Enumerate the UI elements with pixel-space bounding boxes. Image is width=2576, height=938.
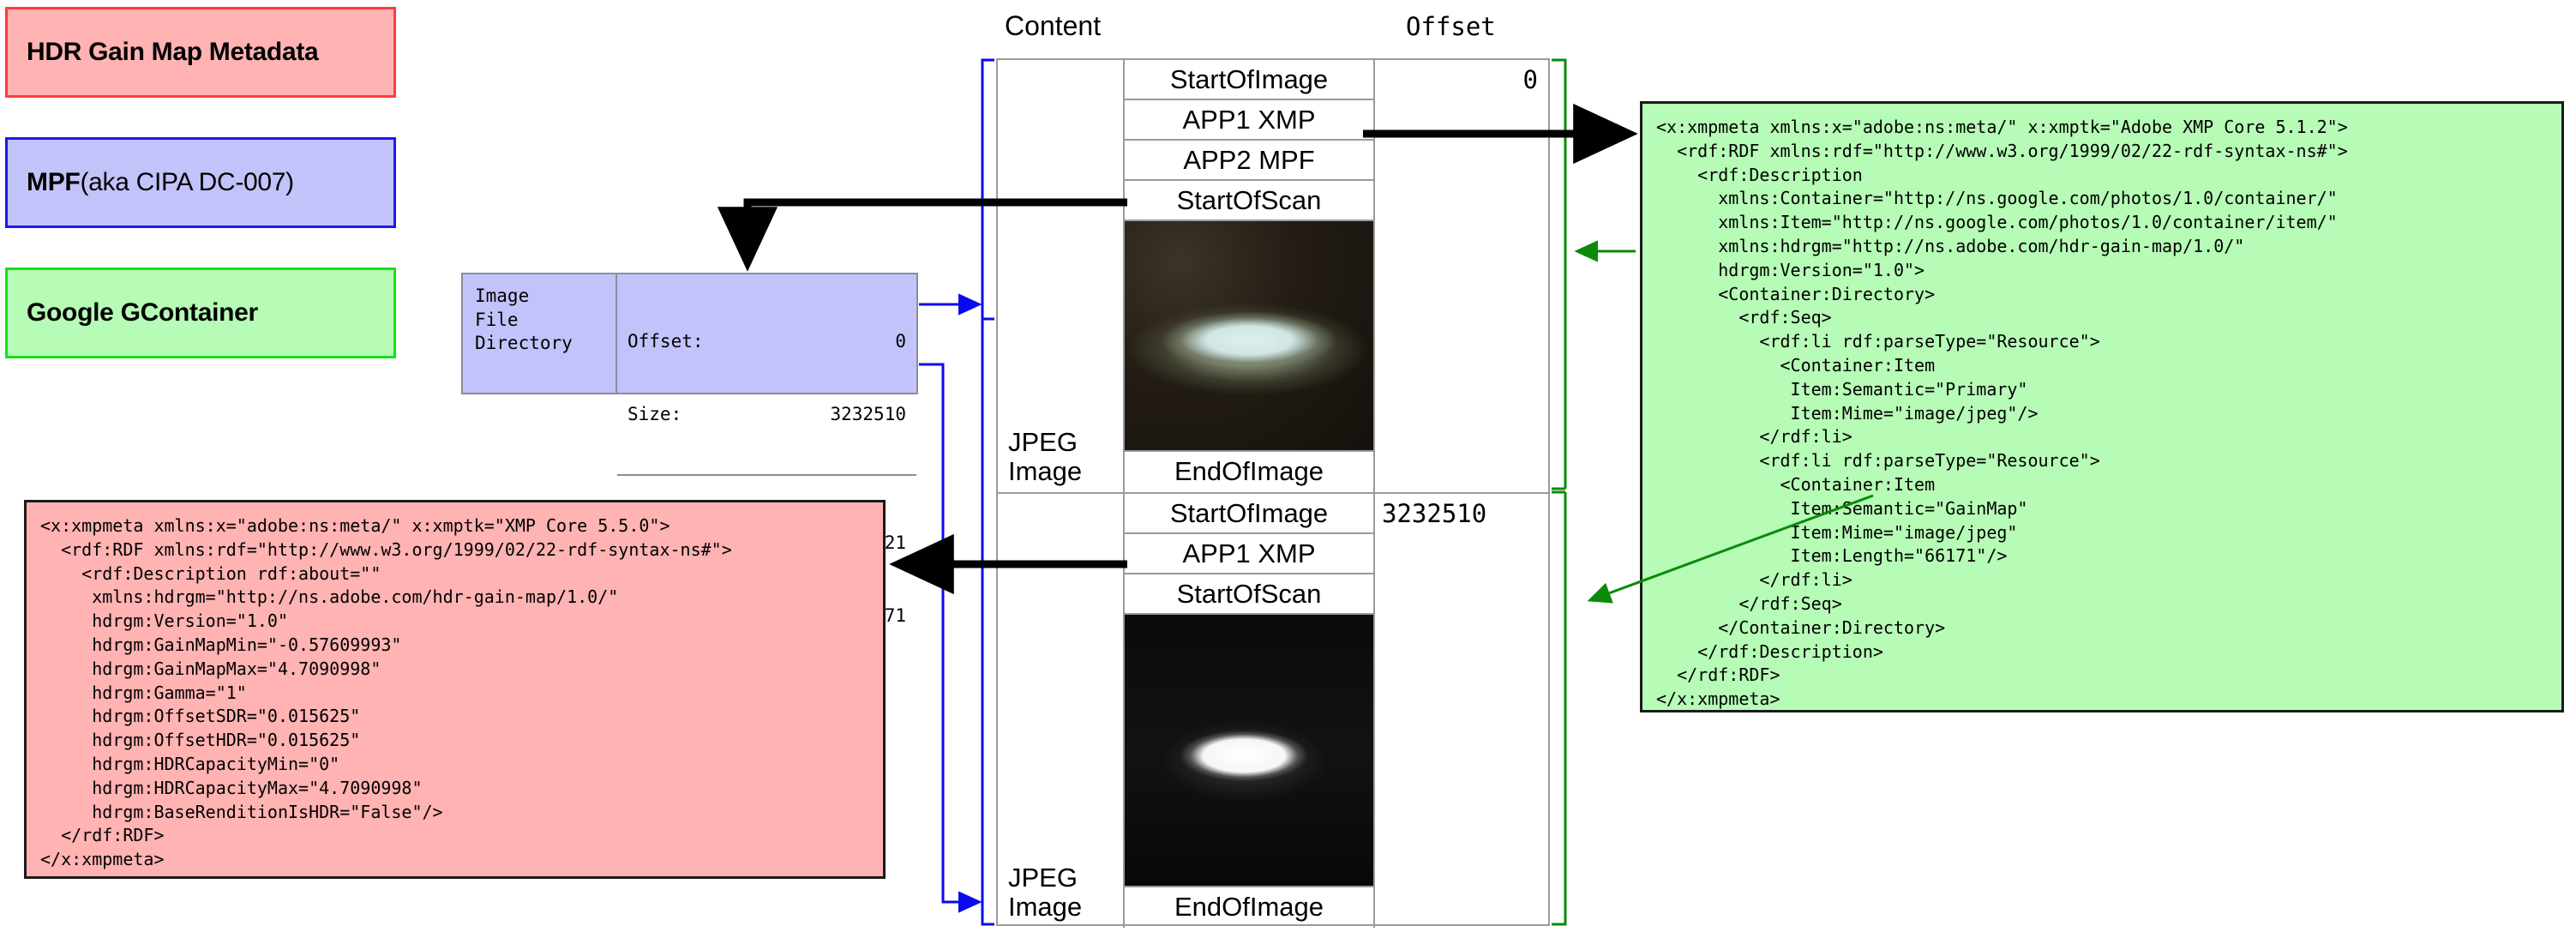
jpeg-group-1-offset-value: 0 <box>1523 65 1538 94</box>
segment-start-of-image-2: StartOfImage <box>1125 494 1373 534</box>
jpeg-group-1-rows: StartOfImage APP1 XMP APP2 MPF StartOfSc… <box>1125 60 1375 492</box>
legend-google-gcontainer: Google GContainer <box>5 268 396 358</box>
jpeg-group-2-label-text: JPEG Image <box>1008 863 1082 921</box>
jpeg-group-primary: JPEG Image StartOfImage APP1 XMP APP2 MP… <box>998 60 1548 494</box>
legend-mpf-label-rest: (aka CIPA DC-007) <box>80 168 293 197</box>
legend-mpf-label: MPF <box>27 168 80 197</box>
content-column-header: Content <box>1005 10 1101 42</box>
ifd-entry-1-size-value: 3232510 <box>730 402 906 426</box>
ifd-entry-1-size-key: Size: <box>627 402 730 426</box>
segment-start-of-scan-2: StartOfScan <box>1125 574 1373 615</box>
gcontainer-green-bracket <box>1552 60 1565 924</box>
segment-app1-xmp: APP1 XMP <box>1125 100 1373 141</box>
jpeg-group-1-offset: 0 <box>1375 60 1548 492</box>
ifd-entry-primary: Offset:0 Size:3232510 <box>617 274 916 474</box>
jpeg-group-1-label-text: JPEG Image <box>1008 428 1082 485</box>
mpf-offset-arrows <box>919 304 979 902</box>
jpeg-structure-table: JPEG Image StartOfImage APP1 XMP APP2 MP… <box>996 58 1550 926</box>
segment-start-of-scan: StartOfScan <box>1125 181 1373 221</box>
gain-map-photo-pixels <box>1125 615 1373 886</box>
segment-start-of-image: StartOfImage <box>1125 60 1373 100</box>
xmp-gcontainer-block: <x:xmpmeta xmlns:x="adobe:ns:meta/" x:xm… <box>1640 101 2564 713</box>
segment-end-of-image-2: EndOfImage <box>1125 887 1373 928</box>
jpeg-group-gainmap: JPEG Image StartOfImage APP1 XMP StartOf… <box>998 494 1548 928</box>
jpeg-group-1-label: JPEG Image <box>998 60 1125 492</box>
legend-hdr-gain-map-metadata: HDR Gain Map Metadata <box>5 7 396 98</box>
segment-app2-mpf: APP2 MPF <box>1125 141 1373 181</box>
ifd-entry-1-offset-value: 0 <box>730 329 906 353</box>
ifd-label: Image File Directory <box>463 274 617 393</box>
ifd-entries: Offset:0 Size:3232510 Offset:3230821 Siz… <box>617 274 916 393</box>
jpeg-group-2-rows: StartOfImage APP1 XMP StartOfScan EndOfI… <box>1125 494 1375 928</box>
legend-hdr-label: HDR Gain Map Metadata <box>27 38 318 67</box>
segment-app1-xmp-2: APP1 XMP <box>1125 534 1373 574</box>
ifd-entry-1-offset-key: Offset: <box>627 329 730 353</box>
legend-gcontainer-label: Google GContainer <box>27 298 258 328</box>
segment-end-of-image: EndOfImage <box>1125 452 1373 492</box>
diagram-canvas: HDR Gain Map Metadata MPF (aka CIPA DC-0… <box>0 0 2576 938</box>
mpf-blue-bracket <box>982 60 994 924</box>
primary-photo-cave-pixels <box>1125 221 1373 450</box>
gain-map-photo <box>1125 615 1373 887</box>
offset-column-header: Offset <box>1406 12 1496 41</box>
xmp-gain-map-metadata-block: <x:xmpmeta xmlns:x="adobe:ns:meta/" x:xm… <box>24 500 886 879</box>
mpf-image-file-directory: Image File Directory Offset:0 Size:32325… <box>461 273 918 394</box>
jpeg-group-2-offset-value: 3232510 <box>1382 499 1486 528</box>
primary-photo-cave <box>1125 221 1373 452</box>
jpeg-group-2-offset: 3232510 <box>1375 494 1548 928</box>
jpeg-group-2-label: JPEG Image <box>998 494 1125 928</box>
legend-mpf: MPF (aka CIPA DC-007) <box>5 137 396 228</box>
